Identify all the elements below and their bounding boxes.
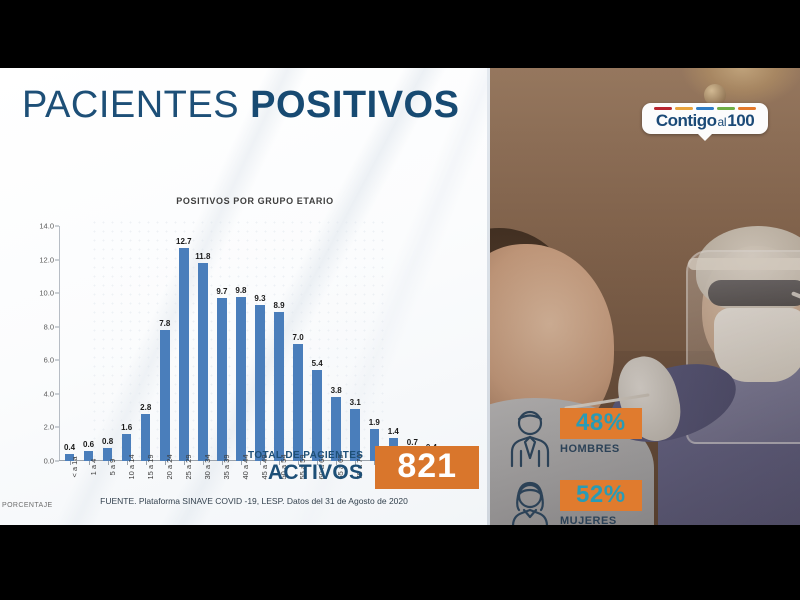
y-tick-mark [55,259,59,260]
bar-column: 0.785 a 89 [403,226,422,461]
total-label-line2: ACTIVOS [248,462,363,484]
y-tick-mark [55,326,59,327]
y-tick-label: 10.0 [39,289,54,298]
x-tick-label: 15 a 19 [146,454,155,479]
page-title: PACIENTES POSITIVOS [22,86,459,124]
bar [236,297,246,462]
x-tick-label: 1 a 4 [89,459,98,476]
bar-column: 1.975 a 79 [365,226,384,461]
bar [198,263,208,461]
logo-word-contigo: Contigo [656,112,717,129]
bar-column: 7.820 a 24 [155,226,174,461]
bar-column: 3.170 a 74 [346,226,365,461]
bar-column: 11.830 a 34 [193,226,212,461]
source-note: FUENTE. Plataforma SINAVE COVID -19, LES… [0,496,490,506]
logo-dash-2 [696,107,714,110]
x-tick-label: 20 a 24 [165,454,174,479]
stat-mujeres-pill: 52% [560,480,642,511]
y-tick-mark [55,360,59,361]
y-tick-label: 4.0 [44,389,54,398]
man-icon [504,408,556,468]
logo-word-al: al [718,116,727,128]
x-tick-label: 35 a 39 [222,454,231,479]
bar-value-label: 11.8 [195,252,210,261]
y-tick-mark [55,393,59,394]
bar-value-label: 8.9 [273,301,284,310]
y-tick-label: 12.0 [39,255,54,264]
stat-mujeres-percent: 52% [576,481,626,508]
bar-column: 7.055 a 59 [289,226,308,461]
stat-mujeres-label: MUJERES [560,515,642,525]
chart-title: POSITIVOS POR GRUPO ETARIO [0,196,490,206]
bar-value-label: 12.7 [176,237,192,246]
stat-hombres-label: HOMBRES [560,443,642,455]
logo-dash-0 [654,107,672,110]
y-tick-label: 6.0 [44,356,54,365]
total-active-block: TOTAL DE PACIENTES ACTIVOS 821 [248,446,479,489]
stat-hombres-percent: 48% [576,409,626,436]
y-tick-mark [55,293,59,294]
photo-panel: Contigo al 100 [490,68,800,525]
bar [217,298,227,461]
logo-word-100: 100 [727,112,754,129]
bar-value-label: 7.8 [159,319,170,328]
total-value: 821 [375,446,479,489]
y-tick-label: 8.0 [44,322,54,331]
x-tick-label: 10 a 14 [127,454,136,479]
bar [274,312,284,461]
total-label: TOTAL DE PACIENTES ACTIVOS [248,451,363,484]
title-bold: POSITIVOS [250,84,459,126]
bar-series: 0.4< a 1a0.61 a 40.85 a 91.610 a 142.815… [60,226,460,461]
bar-value-label: 0.8 [102,437,113,446]
stat-hombres-pill: 48% [560,408,642,439]
bar-value-label: 0.4 [64,443,75,452]
bar-column: 9.840 a 44 [231,226,250,461]
bar-value-label: 1.6 [121,423,132,432]
bar [160,330,170,461]
bar-value-label: 7.0 [293,333,304,342]
stat-hombres: 48% HOMBRES [504,408,642,468]
x-tick-label: 5 a 9 [108,459,117,476]
bar [255,305,265,461]
slide-content: PACIENTES POSITIVOS POSITIVOS POR GRUPO … [0,68,800,525]
y-tick-label: 0.0 [44,457,54,466]
woman-icon [504,480,556,525]
bar-column: 8.950 a 54 [270,226,289,461]
y-tick-mark [55,427,59,428]
stat-mujeres: 52% MUJERES [504,480,642,525]
bar-column: 2.815 a 19 [136,226,155,461]
logo-card: Contigo al 100 [642,103,768,134]
slide-screenshot: PACIENTES POSITIVOS POSITIVOS POR GRUPO … [0,0,800,600]
bar-value-label: 9.8 [235,286,246,295]
stat-mujeres-content: 52% MUJERES [560,480,642,525]
logo-dash-1 [675,107,693,110]
y-tick-label: 2.0 [44,423,54,432]
y-tick-mark [55,461,59,462]
bar-column: 0.61 a 4 [79,226,98,461]
stat-hombres-content: 48% HOMBRES [560,408,642,455]
bar-column: 1.610 a 14 [117,226,136,461]
bar-value-label: 9.3 [254,294,265,303]
bar [293,344,303,462]
logo-dash-4 [738,107,756,110]
bar-column: 9.345 a 49 [250,226,269,461]
logo-pointer [698,134,712,141]
y-tick-label: 14.0 [39,222,54,231]
bar-value-label: 9.7 [216,287,227,296]
x-tick-label: 30 a 34 [203,454,212,479]
bar-value-label: 5.4 [312,359,323,368]
bar-column: 0.195 a 99 [441,226,460,461]
bar-value-label: 3.8 [331,386,342,395]
bar-value-label: 2.8 [140,403,151,412]
bar-column: 0.490 a 94 [422,226,441,461]
bar-column: 1.480 a 84 [384,226,403,461]
bar-column: 12.725 a 29 [174,226,193,461]
bar-column: 0.85 a 9 [98,226,117,461]
bar-value-label: 0.6 [83,440,94,449]
chart-panel: PACIENTES POSITIVOS POSITIVOS POR GRUPO … [0,68,490,525]
y-tick-mark [55,226,59,227]
bar-value-label: 1.4 [388,427,399,436]
logo-wordmark: Contigo al 100 [648,112,762,129]
bar-value-label: 3.1 [350,398,361,407]
plot-area: 0.02.04.06.08.010.012.014.0 0.4< a 1a0.6… [60,226,460,461]
bar-column: 0.4< a 1a [60,226,79,461]
x-tick-label: 25 a 29 [184,454,193,479]
bar-column: 9.735 a 39 [212,226,231,461]
bar-column: 5.460 a 64 [308,226,327,461]
contigo-al-100-logo: Contigo al 100 [642,103,768,141]
title-light: PACIENTES [22,84,239,126]
logo-dash-3 [717,107,735,110]
logo-dashes [648,107,762,110]
bar [179,248,189,461]
bar-column: 3.865 a 69 [327,226,346,461]
bar-value-label: 1.9 [369,418,380,427]
x-tick-label: < a 1a [70,456,79,477]
